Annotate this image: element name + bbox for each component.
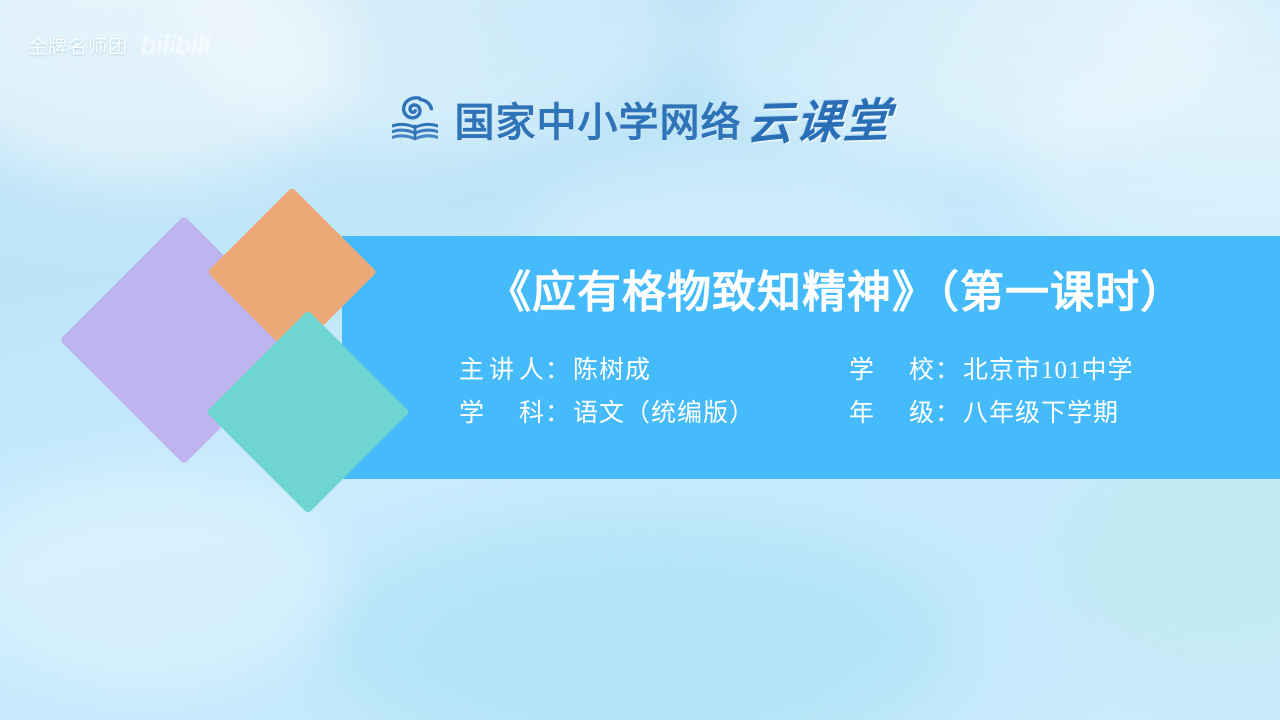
meta-grade: 年 级 ： 八年级下学期 — [849, 392, 1209, 435]
bilibili-logo-icon: bilibili — [140, 30, 210, 61]
cloud-blob — [330, 520, 950, 720]
meta-value: 语文（统编版） — [573, 392, 755, 435]
watermark: 金牌名师团 bilibili — [28, 30, 210, 61]
meta-row: 学 科 ： 语文（统编版） 年 级 ： 八年级下学期 — [459, 392, 1209, 435]
platform-name-brush: 云课堂 — [745, 84, 895, 154]
meta-label: 学 校 — [849, 349, 935, 392]
meta-value: 八年级下学期 — [963, 392, 1119, 435]
meta-colon: ： — [935, 392, 961, 435]
meta-label: 年 级 — [849, 392, 935, 435]
watermark-text: 金牌名师团 — [28, 32, 128, 59]
meta-label: 学 科 — [459, 392, 545, 435]
platform-logo: 国家中小学网络 云课堂 — [0, 86, 1280, 152]
meta-presenter: 主讲人 ： 陈树成 — [459, 349, 849, 392]
meta-row: 主讲人 ： 陈树成 学 校 ： 北京市101中学 — [459, 349, 1209, 392]
lesson-title: 《应有格物致知精神》（第一课时） — [487, 268, 1185, 319]
meta-colon: ： — [545, 349, 571, 392]
meta-colon: ： — [545, 392, 571, 435]
cloud-blob — [0, 470, 340, 690]
lesson-meta: 主讲人 ： 陈树成 学 校 ： 北京市101中学 学 科 ： 语文（统编版） 年 — [459, 349, 1209, 435]
meta-label: 主讲人 — [459, 349, 545, 392]
meta-school: 学 校 ： 北京市101中学 — [849, 349, 1209, 392]
platform-name-main: 国家中小学网络 — [455, 90, 742, 148]
book-wave-icon — [389, 95, 441, 148]
meta-value: 北京市101中学 — [963, 349, 1134, 392]
meta-value: 陈树成 — [573, 349, 651, 392]
slide-canvas: 金牌名师团 bilibili 国家中小学网络 云课堂 《应有格物致知精神》（第一… — [0, 0, 1280, 720]
title-banner: 《应有格物致知精神》（第一课时） 主讲人 ： 陈树成 学 校 ： 北京市101中… — [342, 236, 1280, 479]
meta-colon: ： — [935, 349, 961, 392]
meta-subject: 学 科 ： 语文（统编版） — [459, 392, 849, 435]
